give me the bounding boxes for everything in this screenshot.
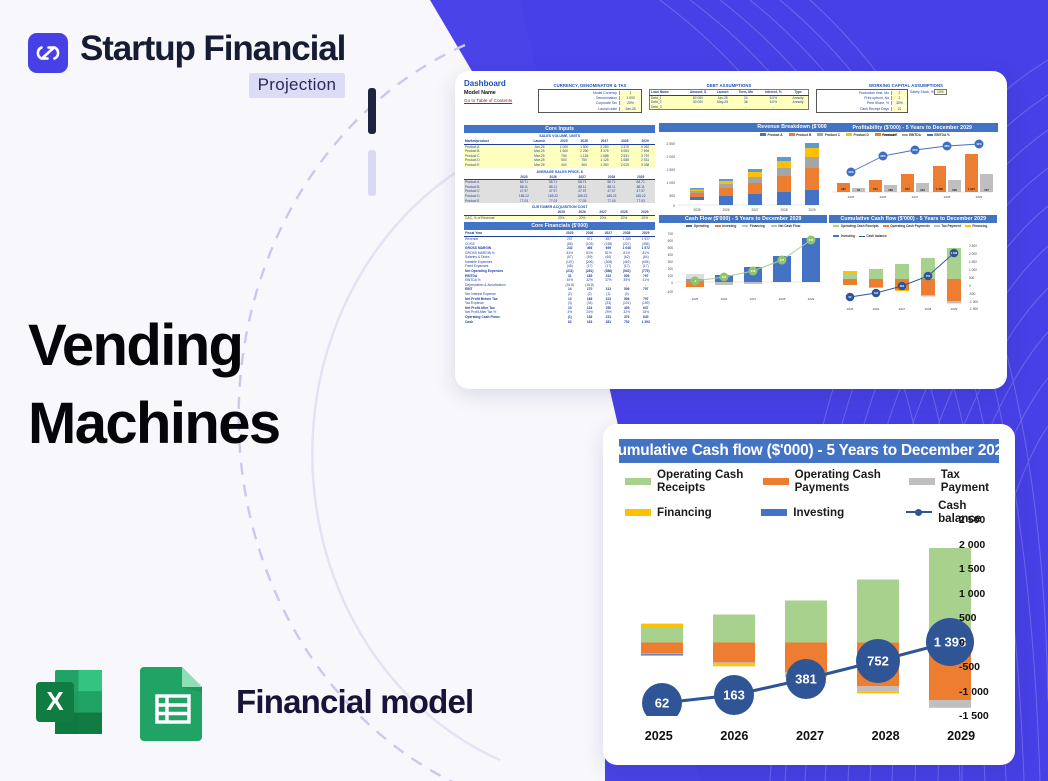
svg-text:2025: 2025 (694, 208, 701, 212)
bar-financing-2026 (713, 664, 755, 666)
svg-text:1 000: 1 000 (969, 268, 977, 272)
fin-cell[interactable]: Cash (464, 320, 560, 325)
currency-val-2[interactable]: 20% (619, 101, 641, 105)
x-tick-2029: 2029 (923, 729, 999, 743)
legend-label: Financing (657, 506, 712, 519)
ccf-label-small: 163 (874, 291, 879, 295)
svg-text:2 000: 2 000 (969, 252, 977, 256)
ap-cell[interactable]: 77.03 (539, 199, 568, 204)
svg-text:2029: 2029 (951, 307, 958, 311)
currency-key-2: Corporate Tax (539, 101, 619, 105)
sv-cell[interactable]: 400 (554, 163, 574, 168)
wc-key-0: Production time, Mo (817, 91, 891, 95)
bar-payments-2026 (713, 643, 755, 663)
sales-volume-table[interactable]: Market/product Launch 2025 2026 2027 202… (464, 139, 655, 168)
page-title: Vending Machines (28, 307, 280, 463)
ap-cell[interactable]: 77.03 (597, 199, 626, 204)
svg-text:-500: -500 (969, 292, 976, 296)
cac-cell[interactable]: 20% (613, 215, 634, 220)
legend-swatch-operating-receipts (625, 478, 651, 485)
currency-val-3[interactable]: Jan-25 (619, 107, 641, 111)
y-tick: -1 500 (959, 710, 989, 722)
table-row: Product E77.0377.0377.0377.0377.03 (464, 199, 655, 204)
revenue-breakdown-chart: 2 5002 0001 500 1 0005000 202520 (659, 138, 825, 214)
google-sheets-icon (138, 663, 208, 741)
svg-text:0: 0 (672, 281, 674, 285)
fin-cell[interactable]: 1 393 (636, 320, 655, 325)
bar-tax-2026 (713, 662, 755, 664)
currency-val-0[interactable]: 1 (619, 91, 641, 95)
legend-label: Financing (972, 224, 987, 228)
cumulative-cashflow-plot: 62 163 381 752 1 393 (621, 520, 999, 716)
legend-label: Investing (793, 506, 844, 519)
wc-panel[interactable]: Production time, Mo2 Print upfront, No2 … (816, 89, 908, 113)
svg-text:500: 500 (670, 194, 676, 198)
left-panel: Startup Financial Projection Vending Mac… (0, 0, 440, 781)
dashboard-sheet: Dashboard Model Name Go to Table of Cont… (455, 71, 1007, 389)
profitability-title: Profitability ($'000) - 5 Years to Decem… (827, 124, 997, 133)
profit-pct-label: 41% (977, 142, 983, 146)
bar-payments-2025 (641, 643, 683, 654)
legend-label: Operating (694, 224, 709, 228)
svg-text:2026: 2026 (721, 297, 728, 301)
cumulative-cash-flow-chart-small: 2 5002 0001 500 1 0005000 -500-1 000-1 5… (829, 239, 995, 313)
wc-extra-val[interactable]: 10% (934, 89, 947, 95)
wc-key-3: Cash Receipt Days (817, 107, 891, 111)
svg-text:2025: 2025 (848, 195, 855, 199)
fin-cell[interactable]: 752 (617, 320, 636, 325)
ap-cell[interactable]: 77.03 (626, 199, 655, 204)
cash-flow-chart: 700600500 400300200 1000-100 (659, 229, 825, 303)
svg-text:-1 500: -1 500 (969, 307, 978, 311)
x-axis-labels: 2025 2026 2027 2028 2029 (621, 729, 999, 743)
bar-receipts-2028 (857, 580, 899, 643)
legend-swatch-tax (909, 478, 935, 485)
sv-cell[interactable]: 2 025 (615, 163, 635, 168)
cac-cell[interactable]: 20% (572, 215, 593, 220)
legend-line-cash-balance (906, 508, 932, 517)
wc-key-2: Prrot Share, % (817, 101, 891, 105)
y-tick: 1 000 (959, 588, 985, 600)
currency-key-0: Model Currency (539, 91, 619, 95)
cashflow-title: Cash Flow ($'000) - 5 Years to December … (659, 215, 827, 224)
profit-pct-label: 32% (881, 154, 887, 158)
profit-ebitda-label: 31 (857, 188, 861, 192)
core-inputs-bar: Core Inputs (464, 125, 655, 133)
debt-assumptions-table[interactable]: Loan NameAmount, $LaunchTerm, MoInterest… (649, 89, 809, 110)
svg-text:0: 0 (673, 204, 675, 208)
legend-label: Product B (796, 133, 811, 137)
debt-cell[interactable]: - (684, 105, 713, 110)
currency-val-1[interactable]: 1 000 (619, 96, 641, 100)
debt-cell[interactable]: Debt_3 (650, 105, 684, 110)
cumulative-cashflow-title: Cumulative Cash flow ($'000) - 5 Years t… (619, 439, 999, 463)
svg-text:500: 500 (668, 246, 674, 250)
bar-receipts-2027 (785, 601, 827, 643)
debt-cell[interactable]: - (759, 105, 789, 110)
currency-key-3: Launch date (539, 107, 619, 111)
profit-rev-label: 1 927 (968, 187, 975, 191)
ccf-label-small: 752 (926, 274, 931, 278)
y-tick: 2 500 (959, 514, 985, 526)
profit-rev-label: 571 (873, 187, 878, 191)
y-tick: 0 (959, 637, 965, 649)
cac-table[interactable]: 2025 2026 2027 2028 2029 CAC, % of Reven… (464, 210, 655, 220)
core-financials-bar: Core Financials ($'000) (464, 222, 655, 230)
svg-text:2028: 2028 (779, 297, 786, 301)
profit-pct-label: 10% (849, 170, 855, 174)
svg-text:500: 500 (969, 276, 975, 280)
profit-ebitda-label: 797 (984, 188, 989, 192)
legend-label: Operating Cash Receipts (657, 468, 763, 494)
y-tick: -1 000 (959, 686, 989, 698)
dashboard-title: Dashboard (464, 79, 538, 89)
legend-label: Net Cash Flow (778, 224, 800, 228)
cf-label: 218 (751, 269, 756, 273)
legend-label: EBITDA % (934, 133, 949, 137)
format-badges: X Financial model (30, 663, 473, 741)
legend-label: Tax Payment (941, 468, 997, 494)
svg-text:100: 100 (668, 274, 674, 278)
dashboard-screenshot-card[interactable]: Dashboard Model Name Go to Table of Cont… (455, 71, 1007, 389)
profit-rev-label: 1 285 (936, 187, 943, 191)
point-label-2025: 62 (655, 696, 669, 711)
legend-swatch-investing (761, 509, 787, 516)
table-row: Product EMar-254009001 3502 0253 038 (464, 163, 655, 168)
x-tick-2028: 2028 (848, 729, 924, 743)
debt-cell[interactable]: - (733, 105, 759, 110)
profit-ebitda-label: 313 (920, 188, 925, 192)
cf-label: 375 (780, 258, 785, 262)
sv-cell[interactable]: Mar-25 (525, 163, 554, 168)
wc-val-1[interactable]: 2 (891, 96, 907, 100)
svg-text:2029: 2029 (809, 208, 816, 212)
point-label-2028: 752 (867, 654, 889, 669)
x-tick-2027: 2027 (772, 729, 848, 743)
svg-text:2026: 2026 (723, 208, 730, 212)
legend-label: Operating Cash Payments (890, 224, 930, 228)
sv-cell[interactable]: 3 038 (635, 163, 655, 168)
svg-text:1 500: 1 500 (667, 168, 676, 172)
legend-label: EBITDA (909, 133, 921, 137)
svg-text:1 500: 1 500 (969, 260, 977, 264)
debt-cell[interactable]: - (712, 105, 733, 110)
svg-text:700: 700 (668, 232, 674, 236)
format-badge-label: Financial model (236, 683, 473, 721)
svg-text:-100: -100 (667, 290, 674, 294)
legend-label: Operating Cash Receipts (841, 224, 879, 228)
sv-cell[interactable]: Product E (464, 163, 525, 168)
legend-label: Cash balance (866, 234, 887, 238)
ccf-label-small: 1 393 (951, 251, 958, 255)
currency-panel-title: CURRENCY, DENOMINATOR & TAX (538, 83, 642, 89)
dashboard-model-name: Model Name (464, 89, 538, 97)
legend-label: Operating Cash Payments (795, 468, 909, 494)
legend-swatch-operating-payments (763, 478, 789, 485)
profit-ebitda-label: 185 (888, 188, 893, 192)
bar-receipts-2025 (641, 628, 683, 643)
ccf-label-small: 381 (900, 284, 905, 288)
headline-line-2: Machines (28, 385, 280, 463)
legend-label: Financing (750, 224, 765, 228)
debt-cell[interactable]: - (788, 105, 808, 110)
profitability-chart: 297 571 857 1 285 1 927 31 185 313 506 7… (827, 138, 995, 200)
svg-text:2 500: 2 500 (667, 142, 676, 146)
ap-cell[interactable]: 77.03 (509, 199, 538, 204)
point-label-2026: 163 (723, 688, 745, 703)
svg-text:2027: 2027 (912, 195, 919, 199)
svg-text:600: 600 (668, 239, 674, 243)
svg-text:2028: 2028 (925, 307, 932, 311)
svg-text:-1 000: -1 000 (969, 300, 978, 304)
bar-receipts-2026 (713, 615, 755, 643)
brand-subtitle: Projection (249, 73, 346, 98)
legend-label: Revenue (882, 133, 895, 137)
cumulative-cashflow-card[interactable]: Cumulative Cash flow ($'000) - 5 Years t… (603, 424, 1015, 765)
point-label-2027: 381 (795, 672, 817, 687)
x-tick-2025: 2025 (621, 729, 697, 743)
brand-title: Startup Financial (80, 28, 345, 70)
toc-link[interactable]: Go to Table of Contents (464, 97, 538, 104)
cac-cell[interactable]: 20% (593, 215, 614, 220)
core-financials-table[interactable]: Fiscal Year 2025 2026 2027 2028 2029 Rev… (464, 231, 655, 324)
svg-text:2026: 2026 (873, 307, 880, 311)
legend-swatch-financing (625, 509, 651, 516)
table-row: CAC, % of Revenue20%20%20%20%20% (464, 215, 655, 220)
svg-text:200: 200 (668, 267, 674, 271)
ap-cell[interactable]: Product E (464, 199, 509, 204)
svg-text:2027: 2027 (750, 297, 757, 301)
legend-label: Tax Payment (941, 224, 960, 228)
y-tick: -500 (959, 661, 980, 673)
svg-text:2026: 2026 (880, 195, 887, 199)
bar-investing-2025 (641, 654, 683, 655)
svg-text:2029: 2029 (976, 195, 983, 199)
legend-label: Product A (767, 133, 782, 137)
svg-text:400: 400 (668, 253, 674, 257)
bar-financing-2028 (857, 691, 899, 693)
cf-label: 640 (809, 238, 814, 242)
fin-cell[interactable]: 381 (600, 320, 618, 325)
cf-label: 101 (722, 275, 727, 279)
brand-logo: Startup Financial Projection (28, 28, 345, 98)
legend-label: Investing (722, 224, 736, 228)
legend-label: Investing (841, 234, 855, 238)
svg-text:2 000: 2 000 (667, 155, 676, 159)
wc-val-3[interactable]: 21 (891, 107, 907, 111)
bar-financing-2025 (641, 624, 683, 628)
fin-cell[interactable]: 62 (560, 320, 580, 325)
microsoft-excel-icon: X (30, 663, 108, 741)
bar-tax-2028 (857, 686, 899, 691)
svg-text:X: X (46, 686, 64, 716)
x-tick-2026: 2026 (697, 729, 773, 743)
svg-text:2027: 2027 (752, 208, 759, 212)
svg-text:2028: 2028 (944, 195, 951, 199)
average-price-table[interactable]: 2025 2026 2027 2028 2029 Product A58.715… (464, 175, 655, 204)
profit-rev-label: 297 (841, 187, 846, 191)
svg-text:0: 0 (969, 284, 971, 288)
cumulative-cashflow-legend-small: Operating Cash Receipts Operating Cash P… (829, 223, 997, 239)
svg-text:2028: 2028 (781, 208, 788, 212)
y-tick: 1 500 (959, 563, 985, 575)
infinity-loop-icon (28, 33, 68, 73)
table-row: Cash621633817521 393 (464, 320, 655, 325)
profit-ebitda-label: 506 (952, 188, 957, 192)
svg-text:2 500: 2 500 (969, 244, 977, 248)
cumulative-cashflow-title-small: Cumulative Cash flow ($'000) - 5 Years t… (829, 215, 997, 224)
profit-pct-label: 37% (913, 148, 919, 152)
fin-cell[interactable]: 163 (580, 320, 600, 325)
table-row: Debt_3----- (650, 105, 809, 110)
svg-text:300: 300 (668, 260, 674, 264)
currency-panel[interactable]: Model Currency1 Denomination1 000 Corpor… (538, 89, 642, 113)
svg-text:1 000: 1 000 (667, 181, 676, 185)
wc-extra-key: Safety Stock, % (910, 89, 934, 94)
headline-line-1: Vending (28, 307, 280, 385)
cac-cell[interactable]: CAC, % of Revenue (464, 215, 551, 220)
profit-rev-label: 857 (905, 187, 910, 191)
svg-text:2027: 2027 (899, 307, 906, 311)
cac-cell[interactable]: 20% (551, 215, 572, 220)
wc-val-0[interactable]: 2 (891, 91, 907, 95)
wc-val-2[interactable]: 30% (891, 101, 907, 105)
sv-cell[interactable]: 900 (574, 163, 594, 168)
sv-cell[interactable]: 1 350 (594, 163, 614, 168)
currency-key-1: Denomination (539, 96, 619, 100)
ap-cell[interactable]: 77.03 (568, 199, 597, 204)
y-tick: 500 (959, 612, 977, 624)
cac-cell[interactable]: 20% (634, 215, 655, 220)
bar-tax-2025 (641, 654, 683, 655)
svg-text:2025: 2025 (847, 307, 854, 311)
y-axis-labels: 2 500 2 000 1 500 1 000 500 0 -500 -1 00… (959, 520, 1007, 716)
wc-key-1: Print upfront, No (817, 96, 891, 100)
profit-pct-label: 39% (945, 144, 951, 148)
y-tick: 2 000 (959, 539, 985, 551)
svg-text:2029: 2029 (808, 297, 815, 301)
svg-text:2025: 2025 (692, 297, 699, 301)
